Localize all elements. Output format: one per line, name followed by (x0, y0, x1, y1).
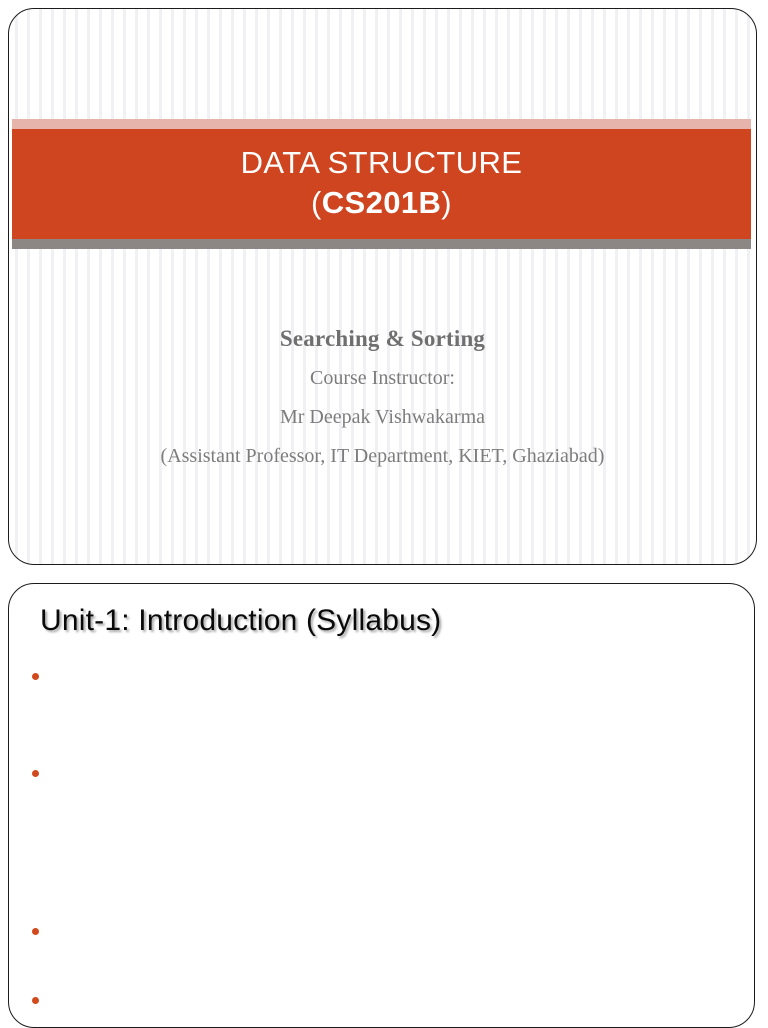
list-item (32, 991, 732, 1004)
syllabus-slide: Unit-1: Introduction (Syllabus) (8, 583, 755, 1028)
topic-heading: Searching & Sorting (9, 319, 756, 359)
bullet-dot-icon (32, 673, 39, 680)
instructor-affiliation: (Assistant Professor, IT Department, KIE… (9, 437, 756, 476)
bullet-dot-icon (32, 997, 39, 1004)
course-code-line: (CS201B) (22, 183, 741, 223)
bullet-dot-icon (32, 770, 39, 777)
course-code-paren-close: ) (441, 185, 452, 220)
instructor-name: Mr Deepak Vishwakarma (9, 398, 756, 437)
list-item (32, 764, 732, 777)
course-code-paren-open: ( (311, 185, 322, 220)
course-title: DATA STRUCTURE (22, 143, 741, 183)
title-banner: DATA STRUCTURE (CS201B) (9, 119, 756, 249)
bullet-dot-icon (32, 928, 39, 935)
banner-bottom-accent-bar (12, 239, 751, 249)
instructor-label: Course Instructor: (9, 359, 756, 398)
subtitle-block: Searching & Sorting Course Instructor: M… (9, 319, 756, 476)
syllabus-bullet-list (9, 584, 754, 1027)
list-item (32, 667, 732, 680)
course-code: CS201B (322, 185, 442, 220)
list-item (32, 922, 732, 935)
banner-body: DATA STRUCTURE (CS201B) (12, 129, 751, 239)
banner-top-accent-bar (12, 119, 751, 129)
title-slide: DATA STRUCTURE (CS201B) Searching & Sort… (8, 8, 757, 565)
